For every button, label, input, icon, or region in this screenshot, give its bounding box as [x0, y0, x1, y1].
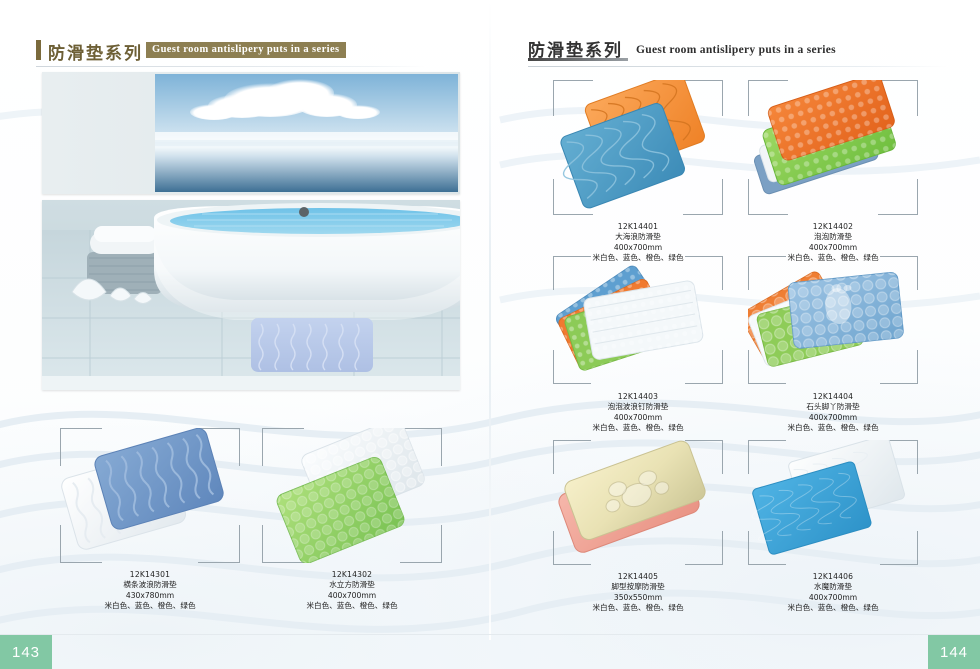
product-image-wave-stripe-mats [60, 428, 240, 563]
product-image-bubble-mats-stack [748, 80, 918, 215]
product-name: 脚型按摩防滑垫 [548, 582, 728, 592]
product-caption-12K14405: 12K14405 脚型按摩防滑垫 350x550mm 米白色、蓝色、橙色、绿色 [548, 572, 728, 614]
product-image-foot-massage-mats [553, 440, 723, 565]
product-card-12K14401[interactable] [553, 80, 723, 215]
product-size: 400x700mm [262, 591, 442, 601]
product-name: 泡泡波浪钉防滑垫 [548, 402, 728, 412]
product-size: 400x700mm [548, 413, 728, 423]
product-size: 350x550mm [548, 593, 728, 603]
product-code: 12K14405 [548, 572, 728, 582]
product-code: 12K14302 [262, 570, 442, 580]
product-size: 400x700mm [743, 413, 923, 423]
page-number-right: 144 [928, 635, 980, 669]
product-name: 水立方防滑垫 [262, 580, 442, 590]
product-size: 400x700mm [743, 243, 923, 253]
product-colors: 米白色、蓝色、橙色、绿色 [548, 603, 728, 613]
product-caption-12K14406: 12K14406 水魔防滑垫 400x700mm 米白色、蓝色、橙色、绿色 [743, 572, 923, 614]
product-image-big-wave-mats [553, 80, 723, 215]
product-code: 12K14406 [743, 572, 923, 582]
page-number-left: 143 [0, 635, 52, 669]
product-card-12K14405[interactable] [553, 440, 723, 565]
product-size: 400x700mm [548, 243, 728, 253]
sky-sea-photo [42, 72, 460, 194]
page-spine [489, 0, 491, 640]
product-caption-12K14404: 12K14404 石头脚丫防滑垫 400x700mm 米白色、蓝色、橙色、绿色 [743, 392, 923, 434]
product-size: 430x780mm [60, 591, 240, 601]
product-card-12K14301[interactable] [60, 428, 240, 563]
product-code: 12K14404 [743, 392, 923, 402]
product-caption-12K14403: 12K14403 泡泡波浪钉防滑垫 400x700mm 米白色、蓝色、橙色、绿色 [548, 392, 728, 434]
left-header-en-title: Guest room antislipery puts in a series [146, 42, 346, 58]
product-code: 12K14402 [743, 222, 923, 232]
right-page-header: 防滑垫系列 Guest room antislipery puts in a s… [528, 38, 948, 62]
product-name: 水魔防滑垫 [743, 582, 923, 592]
product-size: 400x700mm [743, 593, 923, 603]
catalog-spread: 防滑垫系列 Guest room antislipery puts in a s… [0, 0, 980, 669]
product-code: 12K14403 [548, 392, 728, 402]
product-card-12K14403[interactable] [553, 256, 723, 384]
right-header-en-title: Guest room antislipery puts in a series [636, 44, 836, 56]
product-name: 横条波浪防滑垫 [60, 580, 240, 590]
product-image-water-texture-mats [748, 440, 918, 565]
left-header-cn-title: 防滑垫系列 [48, 39, 143, 64]
product-name: 泡泡防滑垫 [743, 232, 923, 242]
product-card-12K14404[interactable] [748, 256, 918, 384]
right-header-rule [528, 66, 948, 67]
product-colors: 米白色、蓝色、橙色、绿色 [60, 601, 240, 611]
bathroom-scene-photo [42, 200, 460, 390]
header-accent-bar [36, 40, 41, 60]
product-image-bubble-wave-stud-mats [553, 256, 723, 384]
right-header-underline [528, 58, 628, 61]
product-card-12K14402[interactable] [748, 80, 918, 215]
product-code: 12K14301 [60, 570, 240, 580]
product-name: 大海浪防滑垫 [548, 232, 728, 242]
product-image-water-cube-mats [262, 428, 442, 563]
left-page-header: 防滑垫系列 Guest room antislipery puts in a s… [36, 40, 426, 62]
product-image-stone-footprint-mats [748, 256, 918, 384]
product-card-12K14302[interactable] [262, 428, 442, 563]
product-caption-12K14301: 12K14301 横条波浪防滑垫 430x780mm 米白色、蓝色、橙色、绿色 [60, 570, 240, 612]
product-card-12K14406[interactable] [748, 440, 918, 565]
product-name: 石头脚丫防滑垫 [743, 402, 923, 412]
product-code: 12K14401 [548, 222, 728, 232]
footer-divider [0, 634, 980, 635]
product-colors: 米白色、蓝色、橙色、绿色 [743, 603, 923, 613]
product-colors: 米白色、蓝色、橙色、绿色 [743, 423, 923, 433]
product-colors: 米白色、蓝色、橙色、绿色 [548, 423, 728, 433]
left-header-rule [36, 66, 426, 67]
product-caption-12K14302: 12K14302 水立方防滑垫 400x700mm 米白色、蓝色、橙色、绿色 [262, 570, 442, 612]
product-colors: 米白色、蓝色、橙色、绿色 [262, 601, 442, 611]
